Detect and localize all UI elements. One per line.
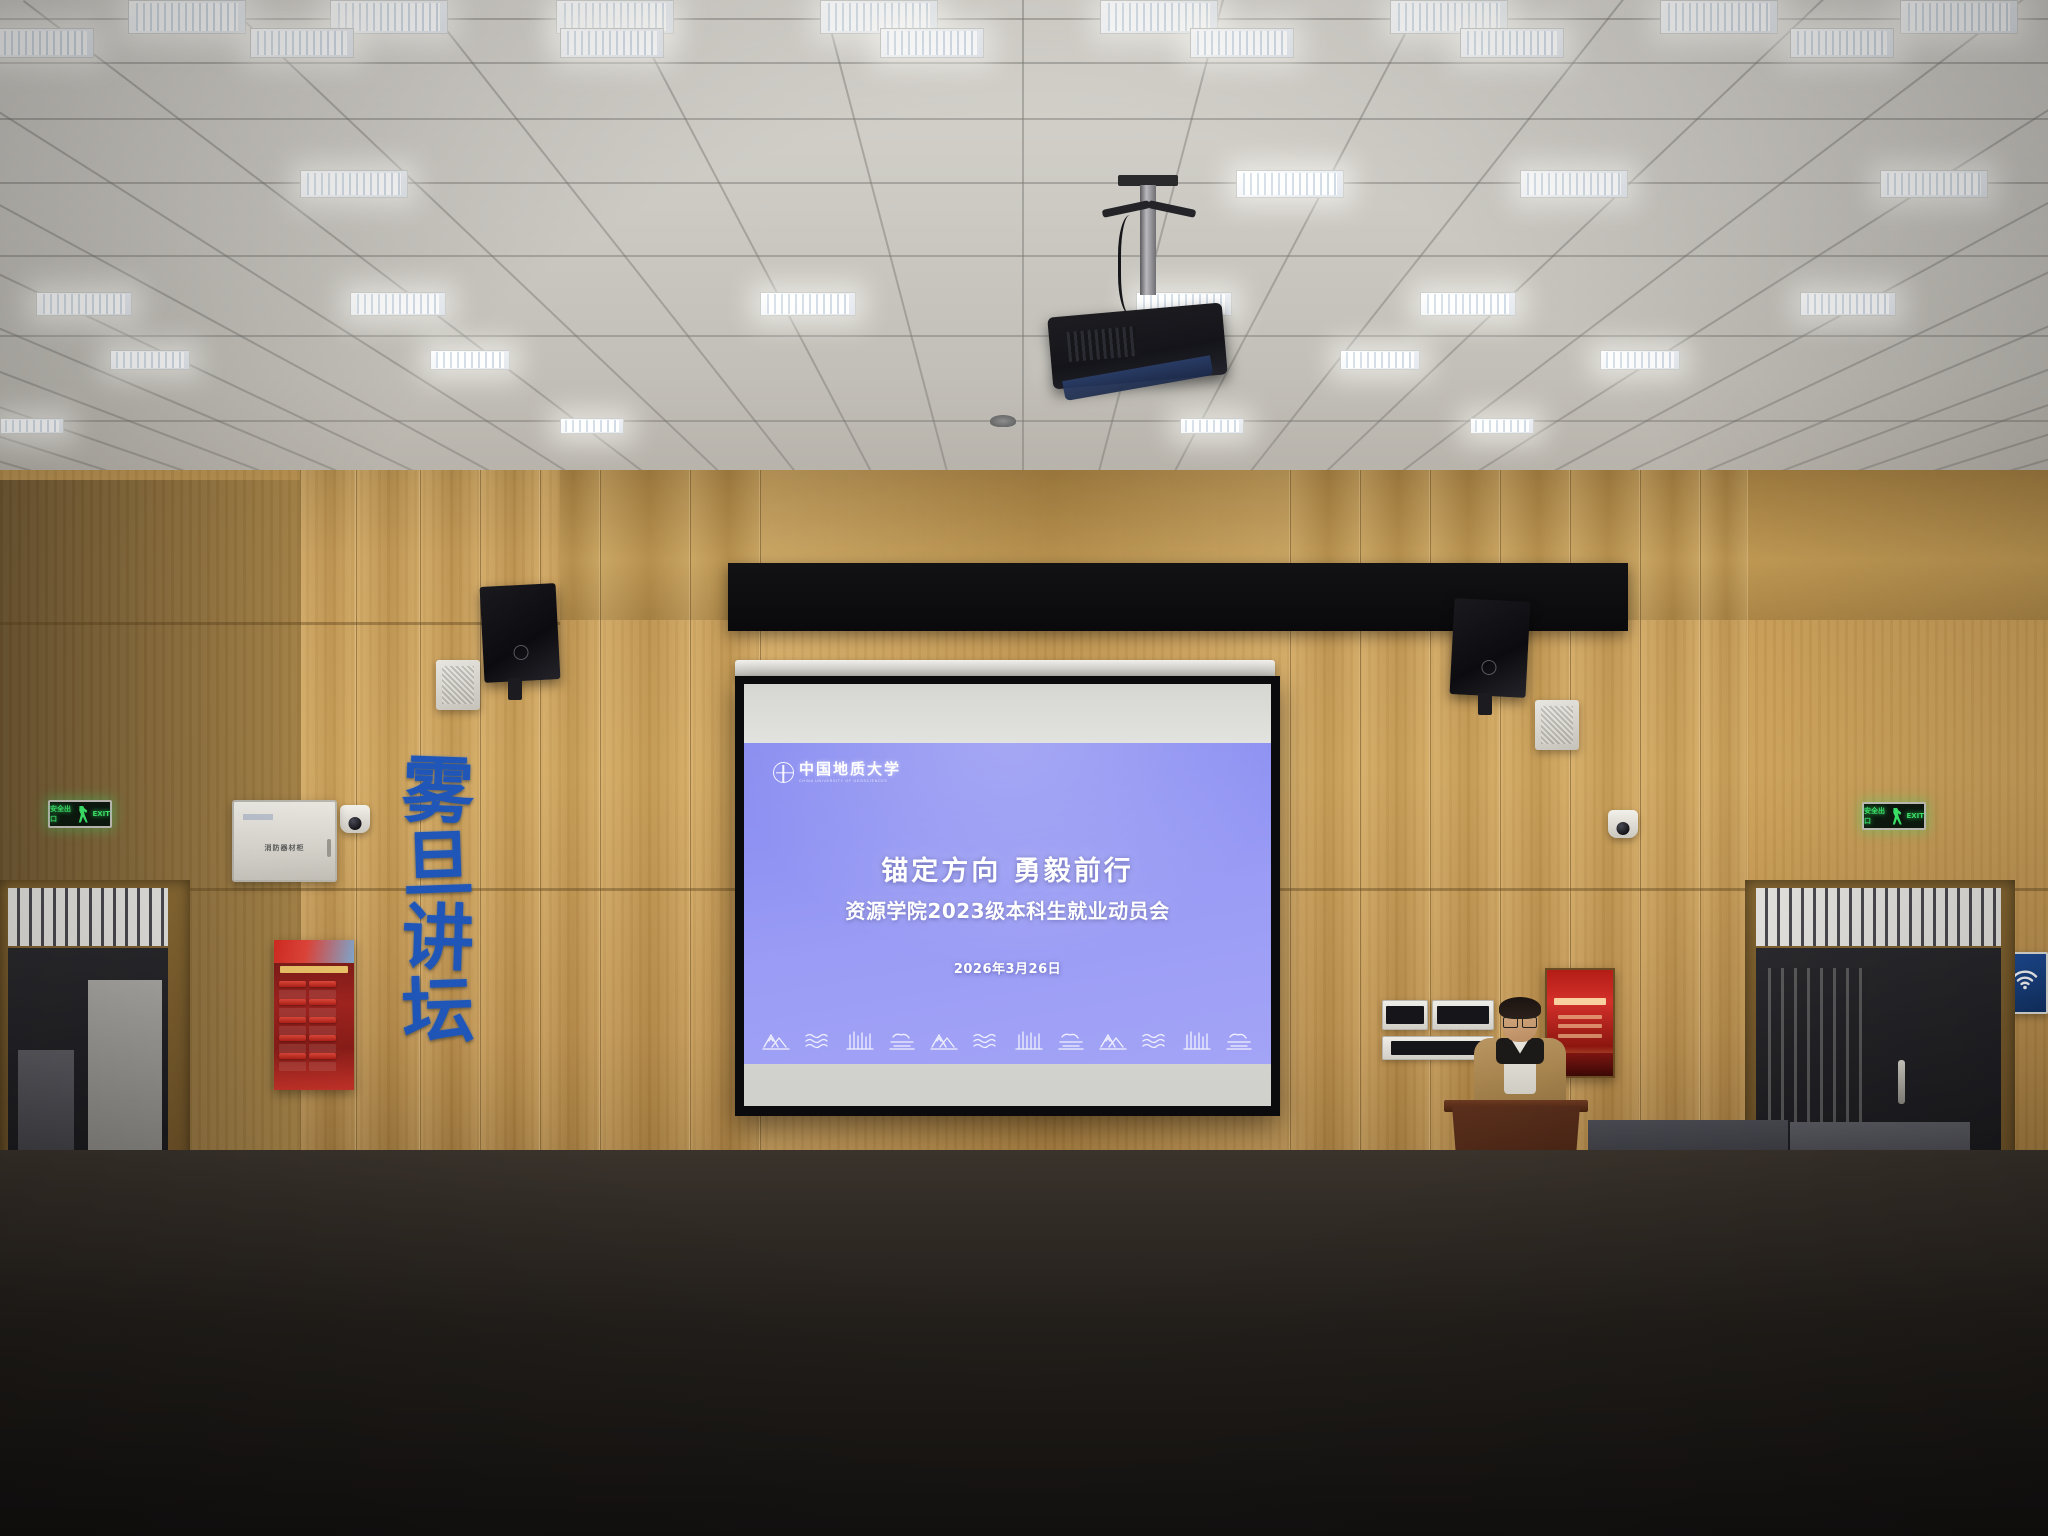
corridor-light-left [88, 980, 162, 1170]
ceiling-light [1180, 418, 1244, 434]
exit-label-en-left: EXIT [92, 810, 110, 818]
running-man-icon-left [77, 806, 89, 823]
slide-motif-grass [1182, 1029, 1212, 1051]
slide-title: 锚定方向 勇毅前行 [744, 849, 1271, 888]
ceiling-light [0, 418, 64, 434]
running-man-icon-right [1891, 808, 1903, 825]
ceiling-light [560, 418, 624, 434]
projection-screen[interactable]: 中国地质大学 CHINA UNIVERSITY OF GEOSCIENCES 锚… [735, 676, 1280, 1116]
slide-motif-grass [845, 1029, 875, 1051]
wall-calligraphy: 雾旦讲坛 [390, 755, 486, 1049]
poster-row [309, 1017, 336, 1024]
slide-date: 2026年3月26日 [744, 958, 1271, 977]
projector [1040, 175, 1240, 390]
slide-motif-wave [1140, 1029, 1170, 1051]
ceiling-light [1600, 350, 1680, 370]
wall-panel [1700, 470, 1748, 1190]
lecture-hall-photo: 中国地质大学 CHINA UNIVERSITY OF GEOSCIENCES 锚… [0, 0, 2048, 1536]
ceiling-light [880, 28, 984, 58]
projector-body [1047, 303, 1228, 390]
poster-note [309, 1062, 336, 1071]
ac-control-panel-1[interactable] [1382, 1000, 1428, 1030]
poster-note [279, 990, 306, 999]
smoke-detector [990, 415, 1016, 427]
ceiling-light [1190, 28, 1294, 58]
speaker-bracket-right [1478, 693, 1492, 715]
poster-note [309, 990, 336, 999]
ceiling-light [1900, 0, 2018, 34]
slide-subtitle: 资源学院2023级本科生就业动员会 [744, 895, 1271, 924]
speaker-bracket-left [508, 678, 522, 700]
calligraphy-char: 讲 [389, 900, 488, 977]
poster-note [279, 1062, 306, 1071]
poster-note [309, 1008, 336, 1017]
poster-note [279, 1008, 306, 1017]
ceiling-light [430, 350, 510, 370]
cabinet-label: 消防器材柜 [234, 843, 335, 853]
university-logo: 中国地质大学 CHINA UNIVERSITY OF GEOSCIENCES [773, 762, 901, 783]
security-camera-right [1608, 810, 1638, 838]
poster-note [309, 1044, 336, 1053]
ceiling-light [560, 28, 664, 58]
ceiling [0, 0, 2048, 500]
slide-motif-grass [1014, 1029, 1044, 1051]
ceiling-light [1236, 170, 1344, 198]
poster-headline [280, 966, 347, 974]
poster-row [279, 1035, 306, 1042]
slide-motif-cloud [887, 1029, 917, 1051]
arched-window-left [8, 888, 168, 946]
wall-panel [600, 470, 690, 1190]
poster-row [279, 1053, 306, 1060]
poster-note [309, 1026, 336, 1035]
ceiling-light [1880, 170, 1988, 198]
poster-row [279, 981, 306, 988]
poster-row [309, 1035, 336, 1042]
ceiling-light [128, 0, 246, 34]
slide-motif-cloud [1224, 1029, 1254, 1051]
presenter-hair [1499, 997, 1541, 1019]
university-name-cn: 中国地质大学 [799, 762, 901, 777]
slide-motif-row [744, 1029, 1271, 1051]
exit-label-en-right: EXIT [1906, 812, 1924, 820]
exit-label-cn-left: 安全出口 [50, 804, 74, 824]
ceiling-light [36, 292, 132, 316]
ceiling-light [110, 350, 190, 370]
slide-motif-mountain [929, 1029, 959, 1051]
slide-motif-wave [971, 1029, 1001, 1051]
ceiling-light [1420, 292, 1516, 316]
ceiling-tile-grid [0, 0, 2048, 500]
wall-panel [480, 470, 540, 1190]
poster-row [309, 1053, 336, 1060]
cabinet-latch-icon[interactable] [327, 839, 331, 857]
poster-row [279, 999, 306, 1006]
wall-panel [1640, 470, 1700, 1190]
poster-note [279, 1044, 306, 1053]
slide-motif-mountain [1098, 1029, 1128, 1051]
presenter [1468, 1000, 1572, 1115]
poster-row [309, 981, 336, 988]
calligraphy-char: 坛 [389, 974, 488, 1051]
slide-motif-wave [803, 1029, 833, 1051]
audience-area [0, 1150, 2048, 1536]
ceiling-light [250, 28, 354, 58]
ceiling-light [300, 170, 408, 198]
projector-vent [1067, 326, 1139, 362]
small-speaker-right [1535, 700, 1579, 750]
wifi-icon [2012, 969, 2038, 994]
door-handle-right[interactable] [1898, 1060, 1905, 1104]
poster-row [309, 999, 336, 1006]
ceiling-light [1660, 0, 1778, 34]
screen-surface: 中国地质大学 CHINA UNIVERSITY OF GEOSCIENCES 锚… [744, 684, 1271, 1106]
arched-window-right [1756, 888, 2001, 946]
poster-flag-graphic [274, 940, 354, 963]
ceiling-light [1800, 292, 1896, 316]
wall-panel [540, 470, 600, 1190]
ceiling-light [350, 292, 446, 316]
ceiling-light [1340, 350, 1420, 370]
slide-motif-mountain [761, 1029, 791, 1051]
ceiling-light [0, 28, 94, 58]
audience-background [0, 1150, 2048, 1536]
exit-sign-left: 安全出口 EXIT [48, 800, 112, 828]
slide-motif-cloud [1056, 1029, 1086, 1051]
exit-label-cn-right: 安全出口 [1864, 806, 1888, 826]
poster-row [279, 1017, 306, 1024]
security-camera-left [340, 805, 370, 833]
university-crest-icon [773, 762, 794, 783]
cabinet-badge [243, 814, 273, 820]
wall-speaker-right [1450, 598, 1531, 698]
ceiling-light [1460, 28, 1564, 58]
ceiling-light [760, 292, 856, 316]
ceiling-light [1470, 418, 1534, 434]
projector-cable [1118, 215, 1148, 315]
presenter-glasses-icon [1503, 1017, 1537, 1026]
wall-poster-left [274, 940, 354, 1090]
exit-sign-right: 安全出口 EXIT [1862, 802, 1926, 830]
fire-equipment-cabinet[interactable]: 消防器材柜 [232, 800, 337, 882]
calligraphy-char: 旦 [389, 827, 488, 904]
small-speaker-left [436, 660, 480, 710]
ceiling-light [1790, 28, 1894, 58]
poster-note [279, 1026, 306, 1035]
wall-seam-2 [0, 622, 560, 625]
ceiling-light [1520, 170, 1628, 198]
wall-speaker-left [480, 583, 561, 683]
calligraphy-char: 雾 [389, 753, 488, 830]
presentation-slide: 中国地质大学 CHINA UNIVERSITY OF GEOSCIENCES 锚… [744, 743, 1271, 1064]
university-name-en: CHINA UNIVERSITY OF GEOSCIENCES [799, 779, 901, 783]
